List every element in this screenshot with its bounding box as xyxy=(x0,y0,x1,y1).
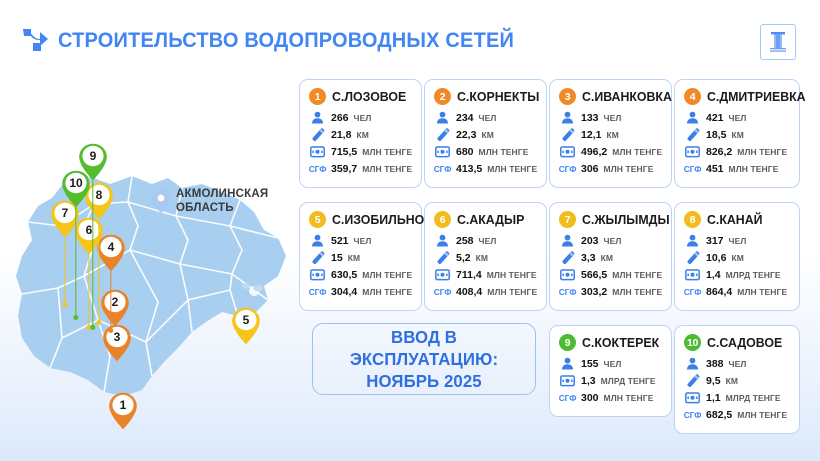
stat-value: 258 xyxy=(456,235,474,247)
pipe-icon xyxy=(309,251,326,265)
stat-value: 408,4 xyxy=(456,286,482,298)
stat-value: 715,5 xyxy=(331,146,357,158)
government-emblem-icon xyxy=(760,24,796,60)
stat-unit: МЛН ТЕНГЕ xyxy=(737,287,787,297)
card-stat-row: 5,2КМ xyxy=(434,249,537,266)
stat-unit: МЛН ТЕНГЕ xyxy=(612,270,662,280)
card-stat-row: 1,3МЛРД ТЕНГЕ xyxy=(559,372,662,389)
stat-unit: КМ xyxy=(356,130,368,140)
stat-value: 22,3 xyxy=(456,129,476,141)
banknote-icon xyxy=(684,269,701,281)
sgf-label-icon: СГФ xyxy=(559,164,576,174)
stat-value: 711,4 xyxy=(456,269,482,281)
stat-value: 15 xyxy=(331,252,343,264)
pipe-icon xyxy=(684,128,701,142)
card-stat-row: 203ЧЕЛ xyxy=(559,232,662,249)
village-card-9[interactable]: 9С.КОКТЕРЕК155ЧЕЛ1,3МЛРД ТЕНГЕСГФ300МЛН … xyxy=(549,325,672,417)
stat-value: 1,3 xyxy=(581,375,596,387)
card-village-name: С.САДОВОЕ xyxy=(707,335,782,350)
card-number-badge: 5 xyxy=(309,211,326,228)
stat-value: 9,5 xyxy=(706,375,721,387)
card-stat-row: 155ЧЕЛ xyxy=(559,355,662,372)
marker-anchor-dot xyxy=(109,328,114,333)
card-stat-row: 826,2МЛН ТЕНГЕ xyxy=(684,143,790,160)
banknote-icon xyxy=(559,375,576,387)
card-stat-row: СГФ408,4МЛН ТЕНГЕ xyxy=(434,283,537,300)
banknote-icon xyxy=(434,146,451,158)
pipe-icon xyxy=(559,251,576,265)
stat-value: 10,6 xyxy=(706,252,726,264)
map-area: АКМОЛИНСКАЯ ОБЛАСТЬ 12345678910 xyxy=(0,60,300,461)
card-stat-row: 496,2МЛН ТЕНГЕ xyxy=(559,143,662,160)
card-header: 10С.САДОВОЕ xyxy=(684,334,790,351)
stat-unit: МЛН ТЕНГЕ xyxy=(362,164,412,174)
stat-unit: КМ xyxy=(726,376,738,386)
village-card-8[interactable]: 8С.КАНАЙ317ЧЕЛ10,6КМ1,4МЛРД ТЕНГЕСГФ864,… xyxy=(674,202,800,311)
page-title: СТРОИТЕЛЬСТВО ВОДОПРОВОДНЫХ СЕТЕЙ xyxy=(58,28,514,53)
village-card-3[interactable]: 3С.ИВАНКОВКА133ЧЕЛ12,1КМ496,2МЛН ТЕНГЕСГ… xyxy=(549,79,672,188)
pipe-icon xyxy=(434,128,451,142)
stat-value: 5,2 xyxy=(456,252,471,264)
stat-value: 155 xyxy=(581,358,599,370)
card-number-badge: 4 xyxy=(684,88,701,105)
person-icon xyxy=(559,111,576,124)
card-stat-row: 388ЧЕЛ xyxy=(684,355,790,372)
stat-unit: МЛН ТЕНГЕ xyxy=(604,164,654,174)
stat-value: 303,2 xyxy=(581,286,607,298)
card-stat-row: 133ЧЕЛ xyxy=(559,109,662,126)
card-header: 6С.АКАДЫР xyxy=(434,211,537,228)
stat-value: 451 xyxy=(706,163,724,175)
stat-unit: МЛРД ТЕНГЕ xyxy=(726,393,781,403)
stat-unit: ЧЕЛ xyxy=(479,236,497,246)
pipe-icon xyxy=(559,128,576,142)
akmola-region-map xyxy=(0,80,292,410)
pipe-icon xyxy=(684,251,701,265)
card-stat-row: СГФ413,5МЛН ТЕНГЕ xyxy=(434,160,537,177)
map-marker-10[interactable]: 10 xyxy=(61,170,91,323)
card-number-badge: 9 xyxy=(559,334,576,351)
stat-value: 1,1 xyxy=(706,392,721,404)
banknote-icon xyxy=(559,146,576,158)
sgf-label-icon: СГФ xyxy=(559,393,576,403)
card-stat-row: 22,3КМ xyxy=(434,126,537,143)
stat-value: 682,5 xyxy=(706,409,732,421)
stat-unit: МЛН ТЕНГЕ xyxy=(487,164,537,174)
stat-unit: МЛН ТЕНГЕ xyxy=(362,147,412,157)
stat-value: 864,4 xyxy=(706,286,732,298)
stat-value: 317 xyxy=(706,235,724,247)
card-stat-row: 15КМ xyxy=(309,249,412,266)
stat-unit: МЛН ТЕНГЕ xyxy=(487,287,537,297)
card-stat-row: 680МЛН ТЕНГЕ xyxy=(434,143,537,160)
stat-value: 12,1 xyxy=(581,129,601,141)
marker-number-label: 1 xyxy=(108,394,138,416)
marker-stem xyxy=(75,189,76,318)
banner-line1: ВВОД В ЭКСПЛУАТАЦИЮ: xyxy=(350,327,498,369)
person-icon xyxy=(309,111,326,124)
card-village-name: С.ЖЫЛЫМДЫ xyxy=(582,212,670,227)
person-icon xyxy=(559,234,576,247)
stat-unit: МЛН ТЕНГЕ xyxy=(479,147,529,157)
stat-value: 133 xyxy=(581,112,599,124)
card-stat-row: СГФ864,4МЛН ТЕНГЕ xyxy=(684,283,790,300)
pipe-icon xyxy=(684,374,701,388)
marker-number-label: 10 xyxy=(61,172,91,194)
stat-value: 234 xyxy=(456,112,474,124)
stat-value: 1,4 xyxy=(706,269,721,281)
marker-stem xyxy=(92,162,93,328)
marker-number-label: 9 xyxy=(78,145,108,167)
map-marker-5[interactable]: 5 xyxy=(231,307,261,345)
person-icon xyxy=(684,234,701,247)
card-header: 9С.КОКТЕРЕК xyxy=(559,334,662,351)
card-stat-row: 715,5МЛН ТЕНГЕ xyxy=(309,143,412,160)
card-stat-row: 21,8КМ xyxy=(309,126,412,143)
stat-value: 826,2 xyxy=(706,146,732,158)
stat-unit: КМ xyxy=(476,253,488,263)
card-stat-row: 258ЧЕЛ xyxy=(434,232,537,249)
stat-unit: МЛН ТЕНГЕ xyxy=(612,147,662,157)
map-marker-1[interactable]: 1 xyxy=(108,392,138,430)
stat-unit: ЧЕЛ xyxy=(604,236,622,246)
sgf-label-icon: СГФ xyxy=(434,164,451,174)
card-number-badge: 1 xyxy=(309,88,326,105)
pipe-icon xyxy=(434,251,451,265)
card-stat-row: 317ЧЕЛ xyxy=(684,232,790,249)
sgf-label-icon: СГФ xyxy=(684,410,701,420)
card-stat-row: 3,3КМ xyxy=(559,249,662,266)
banknote-icon xyxy=(309,269,326,281)
stat-unit: ЧЕЛ xyxy=(729,236,747,246)
stat-unit: МЛН ТЕНГЕ xyxy=(487,270,537,280)
stat-unit: КМ xyxy=(481,130,493,140)
person-icon xyxy=(309,234,326,247)
stat-unit: МЛН ТЕНГЕ xyxy=(604,393,654,403)
stat-unit: ЧЕЛ xyxy=(479,113,497,123)
stat-unit: КМ xyxy=(606,130,618,140)
stat-value: 496,2 xyxy=(581,146,607,158)
stat-unit: ЧЕЛ xyxy=(729,359,747,369)
person-icon xyxy=(434,111,451,124)
region-label-line1: АКМОЛИНСКАЯ xyxy=(176,188,268,202)
sgf-label-icon: СГФ xyxy=(684,164,701,174)
card-stat-row: СГФ451МЛН ТЕНГЕ xyxy=(684,160,790,177)
stat-value: 203 xyxy=(581,235,599,247)
region-label: АКМОЛИНСКАЯ ОБЛАСТЬ xyxy=(176,188,268,215)
card-stat-row: СГФ682,5МЛН ТЕНГЕ xyxy=(684,406,790,423)
card-number-badge: 8 xyxy=(684,211,701,228)
marker-anchor-dot xyxy=(74,315,79,320)
stat-value: 566,5 xyxy=(581,269,607,281)
region-pin-icon xyxy=(152,189,170,213)
stat-unit: КМ xyxy=(731,253,743,263)
stat-unit: КМ xyxy=(348,253,360,263)
village-card-1[interactable]: 1С.ЛОЗОВОЕ266ЧЕЛ21,8КМ715,5МЛН ТЕНГЕСГФ3… xyxy=(299,79,422,188)
card-number-badge: 7 xyxy=(559,211,576,228)
card-header: 8С.КАНАЙ xyxy=(684,211,790,228)
card-village-name: С.ИЗОБИЛЬНОЕ xyxy=(332,212,432,227)
stat-unit: МЛН ТЕНГЕ xyxy=(737,410,787,420)
card-stat-row: СГФ304,4МЛН ТЕНГЕ xyxy=(309,283,412,300)
stat-unit: ЧЕЛ xyxy=(354,113,372,123)
pipe-icon xyxy=(309,128,326,142)
stat-value: 18,5 xyxy=(706,129,726,141)
page-header: СТРОИТЕЛЬСТВО ВОДОПРОВОДНЫХ СЕТЕЙ xyxy=(0,0,820,68)
card-stat-row: 711,4МЛН ТЕНГЕ xyxy=(434,266,537,283)
card-number-badge: 10 xyxy=(684,334,701,351)
card-stat-row: 18,5КМ xyxy=(684,126,790,143)
water-pipe-logo-icon xyxy=(21,27,51,55)
stat-value: 521 xyxy=(331,235,349,247)
sgf-label-icon: СГФ xyxy=(559,287,576,297)
stat-unit: ЧЕЛ xyxy=(604,359,622,369)
stat-value: 421 xyxy=(706,112,724,124)
village-card-7[interactable]: 7С.ЖЫЛЫМДЫ203ЧЕЛ3,3КМ566,5МЛН ТЕНГЕСГФ30… xyxy=(549,202,672,311)
stat-value: 21,8 xyxy=(331,129,351,141)
banknote-icon xyxy=(684,146,701,158)
stat-value: 388 xyxy=(706,358,724,370)
region-label-line2: ОБЛАСТЬ xyxy=(176,202,268,216)
card-stat-row: 9,5КМ xyxy=(684,372,790,389)
card-village-name: С.ИВАНКОВКА xyxy=(582,89,672,104)
stat-unit: МЛН ТЕНГЕ xyxy=(362,287,412,297)
card-stat-row: 566,5МЛН ТЕНГЕ xyxy=(559,266,662,283)
banknote-icon xyxy=(684,392,701,404)
stat-value: 300 xyxy=(581,392,599,404)
card-header: 4С.ДМИТРИЕВКА xyxy=(684,88,790,105)
banknote-icon xyxy=(309,146,326,158)
card-stat-row: 1,4МЛРД ТЕНГЕ xyxy=(684,266,790,283)
person-icon xyxy=(559,357,576,370)
stat-unit: МЛН ТЕНГЕ xyxy=(737,147,787,157)
stat-unit: КМ xyxy=(601,253,613,263)
person-icon xyxy=(684,357,701,370)
sgf-label-icon: СГФ xyxy=(309,164,326,174)
card-village-name: С.АКАДЫР xyxy=(457,212,524,227)
stat-value: 413,5 xyxy=(456,163,482,175)
card-village-name: С.КОКТЕРЕК xyxy=(582,335,659,350)
village-card-10[interactable]: 10С.САДОВОЕ388ЧЕЛ9,5КМ1,1МЛРД ТЕНГЕСГФ68… xyxy=(674,325,800,434)
card-header: 3С.ИВАНКОВКА xyxy=(559,88,662,105)
card-stat-row: СГФ306МЛН ТЕНГЕ xyxy=(559,160,662,177)
village-card-5[interactable]: 5С.ИЗОБИЛЬНОЕ521ЧЕЛ15КМ630,5МЛН ТЕНГЕСГФ… xyxy=(299,202,422,311)
card-header: 7С.ЖЫЛЫМДЫ xyxy=(559,211,662,228)
village-card-6[interactable]: 6С.АКАДЫР258ЧЕЛ5,2КМ711,4МЛН ТЕНГЕСГФ408… xyxy=(424,202,547,311)
card-village-name: С.КАНАЙ xyxy=(707,212,763,227)
banner-line2: НОЯБРЬ 2025 xyxy=(366,371,482,391)
stat-unit: МЛРД ТЕНГЕ xyxy=(726,270,781,280)
stat-unit: ЧЕЛ xyxy=(354,236,372,246)
card-stat-row: 421ЧЕЛ xyxy=(684,109,790,126)
stat-unit: МЛН ТЕНГЕ xyxy=(362,270,412,280)
card-header: 2С.КОРНЕКТЫ xyxy=(434,88,537,105)
commissioning-banner-text: ВВОД В ЭКСПЛУАТАЦИЮ: НОЯБРЬ 2025 xyxy=(325,326,523,392)
person-icon xyxy=(684,111,701,124)
stat-value: 266 xyxy=(331,112,349,124)
marker-number-label: 5 xyxy=(231,309,261,331)
card-stat-row: 1,1МЛРД ТЕНГЕ xyxy=(684,389,790,406)
sgf-label-icon: СГФ xyxy=(309,287,326,297)
card-stat-row: 266ЧЕЛ xyxy=(309,109,412,126)
card-village-name: С.ЛОЗОВОЕ xyxy=(332,89,406,104)
card-stat-row: 234ЧЕЛ xyxy=(434,109,537,126)
person-icon xyxy=(434,234,451,247)
village-card-2[interactable]: 2С.КОРНЕКТЫ234ЧЕЛ22,3КМ680МЛН ТЕНГЕСГФ41… xyxy=(424,79,547,188)
stat-unit: КМ xyxy=(731,130,743,140)
stat-value: 680 xyxy=(456,146,474,158)
marker-anchor-dot xyxy=(91,325,96,330)
stat-unit: МЛН ТЕНГЕ xyxy=(729,164,779,174)
village-card-4[interactable]: 4С.ДМИТРИЕВКА421ЧЕЛ18,5КМ826,2МЛН ТЕНГЕС… xyxy=(674,79,800,188)
card-number-badge: 3 xyxy=(559,88,576,105)
card-stat-row: СГФ300МЛН ТЕНГЕ xyxy=(559,389,662,406)
stat-unit: МЛН ТЕНГЕ xyxy=(612,287,662,297)
card-stat-row: 12,1КМ xyxy=(559,126,662,143)
card-header: 5С.ИЗОБИЛЬНОЕ xyxy=(309,211,412,228)
card-stat-row: 521ЧЕЛ xyxy=(309,232,412,249)
card-village-name: С.ДМИТРИЕВКА xyxy=(707,89,806,104)
card-header: 1С.ЛОЗОВОЕ xyxy=(309,88,412,105)
card-stat-row: 630,5МЛН ТЕНГЕ xyxy=(309,266,412,283)
sgf-label-icon: СГФ xyxy=(434,287,451,297)
card-stat-row: СГФ359,7МЛН ТЕНГЕ xyxy=(309,160,412,177)
card-village-name: С.КОРНЕКТЫ xyxy=(457,89,539,104)
stat-unit: ЧЕЛ xyxy=(604,113,622,123)
stat-value: 359,7 xyxy=(331,163,357,175)
commissioning-banner: ВВОД В ЭКСПЛУАТАЦИЮ: НОЯБРЬ 2025 xyxy=(312,323,536,395)
stat-value: 304,4 xyxy=(331,286,357,298)
card-stat-row: СГФ303,2МЛН ТЕНГЕ xyxy=(559,283,662,300)
card-stat-row: 10,6КМ xyxy=(684,249,790,266)
stat-unit: ЧЕЛ xyxy=(729,113,747,123)
stat-unit: МЛРД ТЕНГЕ xyxy=(601,376,656,386)
stat-value: 3,3 xyxy=(581,252,596,264)
stat-value: 630,5 xyxy=(331,269,357,281)
stat-value: 306 xyxy=(581,163,599,175)
card-number-badge: 6 xyxy=(434,211,451,228)
sgf-label-icon: СГФ xyxy=(684,287,701,297)
banknote-icon xyxy=(559,269,576,281)
card-number-badge: 2 xyxy=(434,88,451,105)
banknote-icon xyxy=(434,269,451,281)
